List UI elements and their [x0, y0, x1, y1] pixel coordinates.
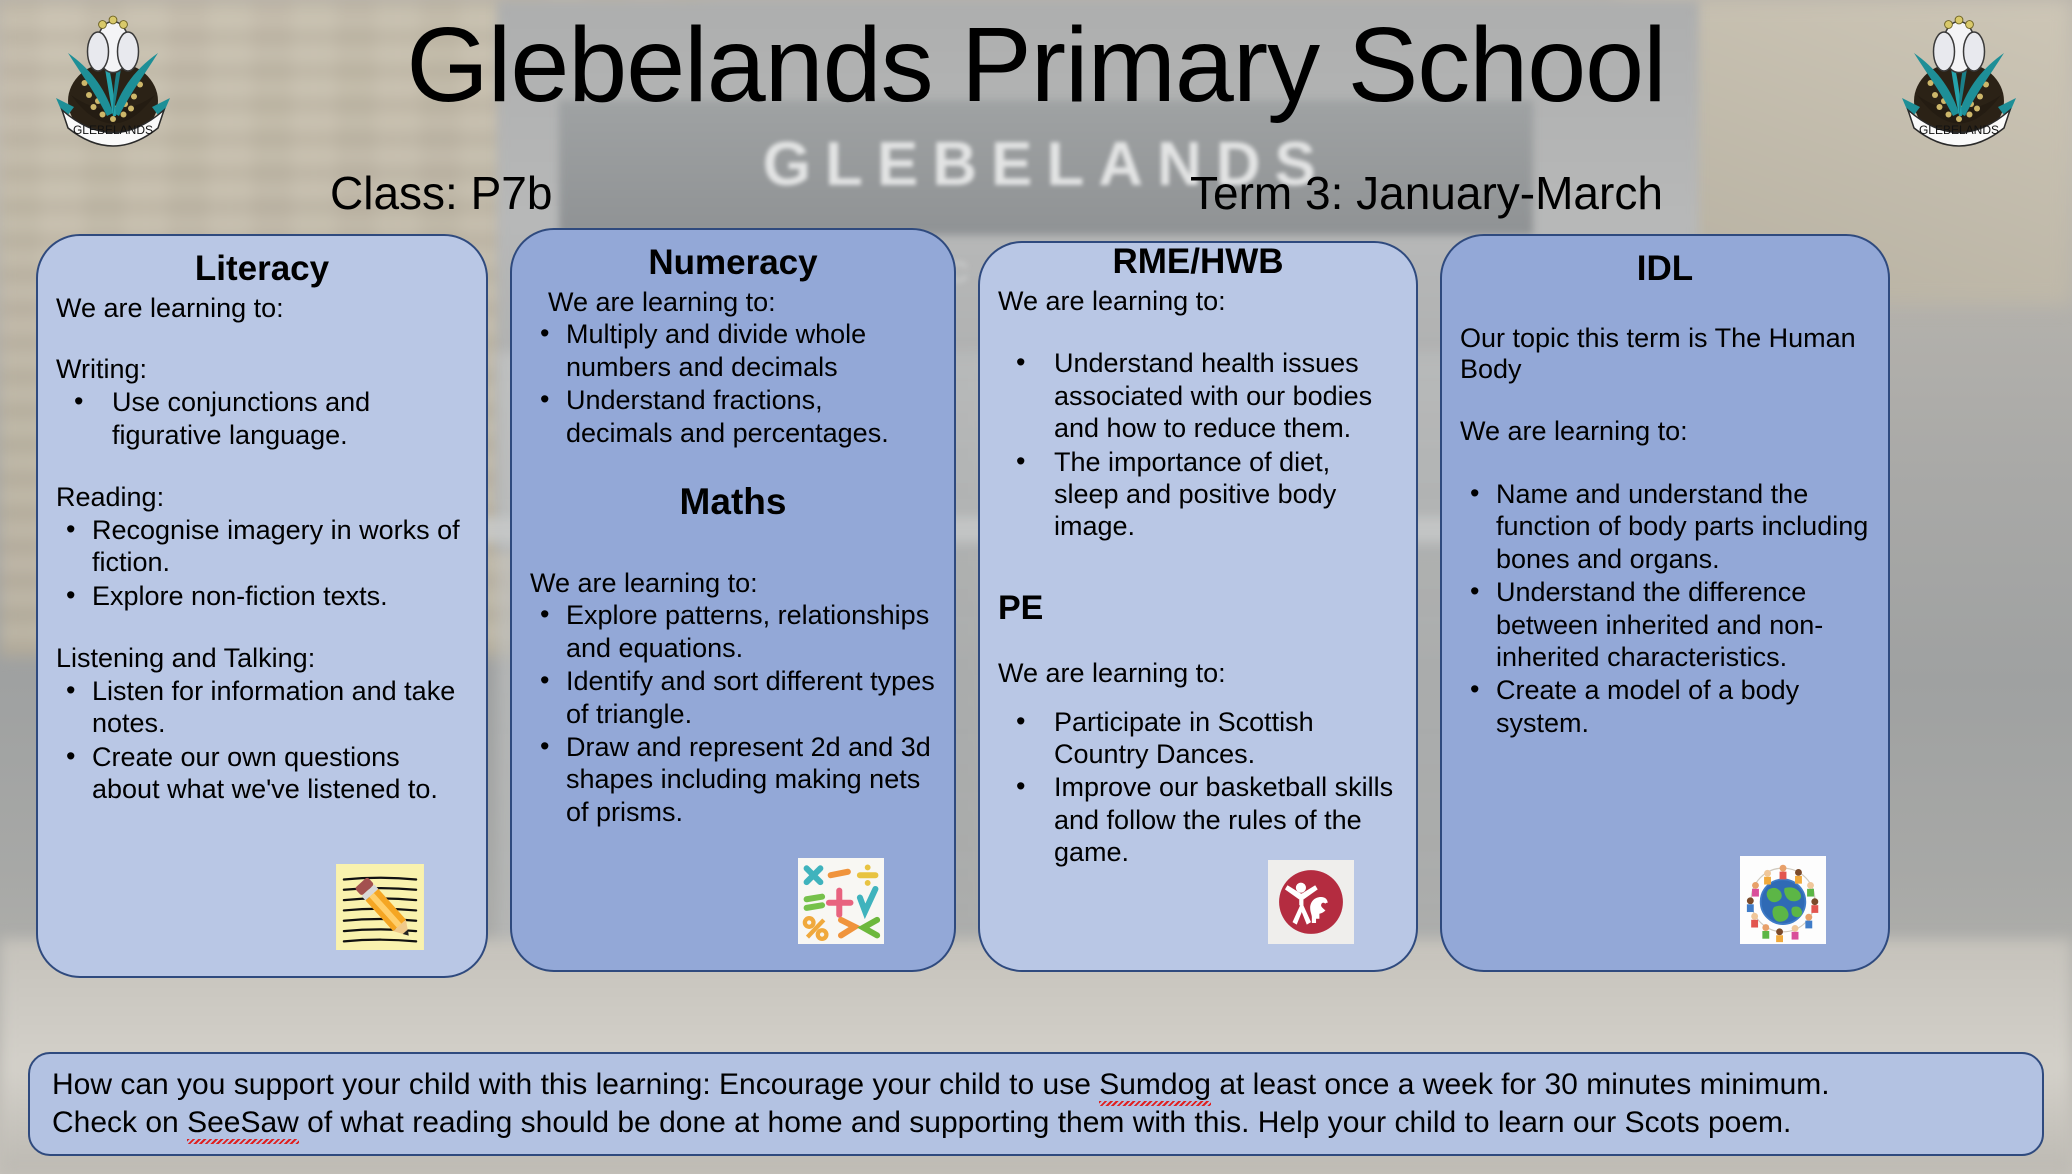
rme-list: Understand health issues associated with… [998, 347, 1398, 542]
list-item: Use conjunctions and figurative language… [56, 386, 468, 451]
numeracy-subtitle-maths: Maths [530, 480, 936, 524]
maths-lead: We are learning to: [530, 568, 936, 600]
idl-topic: Our topic this term is The Human Body [1460, 323, 1870, 387]
banner-line1-a: How can you support your child with this… [52, 1068, 1099, 1101]
banner-line-2: Check on SeeSaw of what reading should b… [52, 1104, 2020, 1142]
list-item: Explore non-fiction texts. [56, 580, 468, 612]
maths-list: Explore patterns, relationships and equa… [530, 599, 936, 828]
pe-lead: We are learning to: [998, 658, 1398, 690]
banner-line2-a: Check on [52, 1106, 187, 1139]
numeracy-list: Multiply and divide whole numbers and de… [530, 318, 936, 449]
list-item: Understand health issues associated with… [998, 347, 1398, 444]
page-title: Glebelands Primary School [0, 8, 2072, 122]
spellcheck-word-sumdog: Sumdog [1099, 1068, 1211, 1101]
card-literacy: Literacy We are learning to: Writing: Us… [36, 234, 488, 978]
page-header: GLEBELANDS [0, 0, 2072, 228]
literacy-reading-heading: Reading: [56, 482, 468, 514]
banner-line2-b: of what reading should be done at home a… [299, 1106, 1792, 1139]
idl-list: Name and understand the function of body… [1460, 478, 1870, 739]
list-item: Improve our basketball skills and follow… [998, 771, 1398, 868]
svg-text:GLEBELANDS: GLEBELANDS [73, 123, 153, 137]
literacy-lead: We are learning to: [56, 293, 468, 325]
list-item: The importance of diet, sleep and positi… [998, 446, 1398, 543]
list-item: Recognise imagery in works of fiction. [56, 514, 468, 579]
numeracy-lead: We are learning to: [530, 287, 936, 319]
card-title-numeracy: Numeracy [530, 244, 936, 283]
literacy-writing-list: Use conjunctions and figurative language… [56, 386, 468, 451]
pe-list: Participate in Scottish Country Dances. … [998, 706, 1398, 869]
term-label: Term 3: January-March [1190, 166, 1663, 220]
literacy-writing-heading: Writing: [56, 354, 468, 386]
card-rme-hwb: RME/HWB We are learning to: Understand h… [978, 241, 1418, 972]
svg-text:GLEBELANDS: GLEBELANDS [1919, 123, 1999, 137]
literacy-reading-list: Recognise imagery in works of fiction. E… [56, 514, 468, 612]
banner-line1-b: at least once a week for 30 minutes mini… [1211, 1068, 1830, 1101]
health-wellbeing-icon [1268, 860, 1354, 944]
list-item: Multiply and divide whole numbers and de… [530, 318, 936, 383]
support-banner: How can you support your child with this… [28, 1052, 2044, 1156]
list-item: Draw and represent 2d and 3d shapes incl… [530, 731, 936, 828]
list-item: Listen for information and take notes. [56, 675, 468, 740]
idl-lead: We are learning to: [1460, 416, 1870, 448]
spellcheck-word-seesaw: SeeSaw [187, 1106, 299, 1139]
list-item: Explore patterns, relationships and equa… [530, 599, 936, 664]
class-label: Class: P7b [330, 166, 552, 220]
card-idl: IDL Our topic this term is The Human Bod… [1440, 234, 1890, 972]
notepad-pencil-icon [336, 864, 424, 950]
rme-subtitle-pe: PE [998, 588, 1398, 628]
card-title-rme-hwb: RME/HWB [998, 243, 1398, 282]
rme-lead: We are learning to: [998, 286, 1398, 318]
literacy-listening-list: Listen for information and take notes. C… [56, 675, 468, 806]
curriculum-cards: Literacy We are learning to: Writing: Us… [36, 228, 2044, 998]
banner-line-1: How can you support your child with this… [52, 1066, 2020, 1104]
list-item: Participate in Scottish Country Dances. [998, 706, 1398, 771]
card-title-literacy: Literacy [56, 250, 468, 289]
literacy-listening-heading: Listening and Talking: [56, 643, 468, 675]
globe-children-icon [1740, 856, 1826, 944]
list-item: Create a model of a body system. [1460, 674, 1870, 739]
card-title-idl: IDL [1460, 250, 1870, 289]
list-item: Identify and sort different types of tri… [530, 665, 936, 730]
card-numeracy: Numeracy We are learning to: Multiply an… [510, 228, 956, 972]
list-item: Understand the difference between inheri… [1460, 576, 1870, 673]
list-item: Create our own questions about what we'v… [56, 741, 468, 806]
list-item: Understand fractions, decimals and perce… [530, 384, 936, 449]
maths-symbols-icon [798, 858, 884, 944]
list-item: Name and understand the function of body… [1460, 478, 1870, 575]
